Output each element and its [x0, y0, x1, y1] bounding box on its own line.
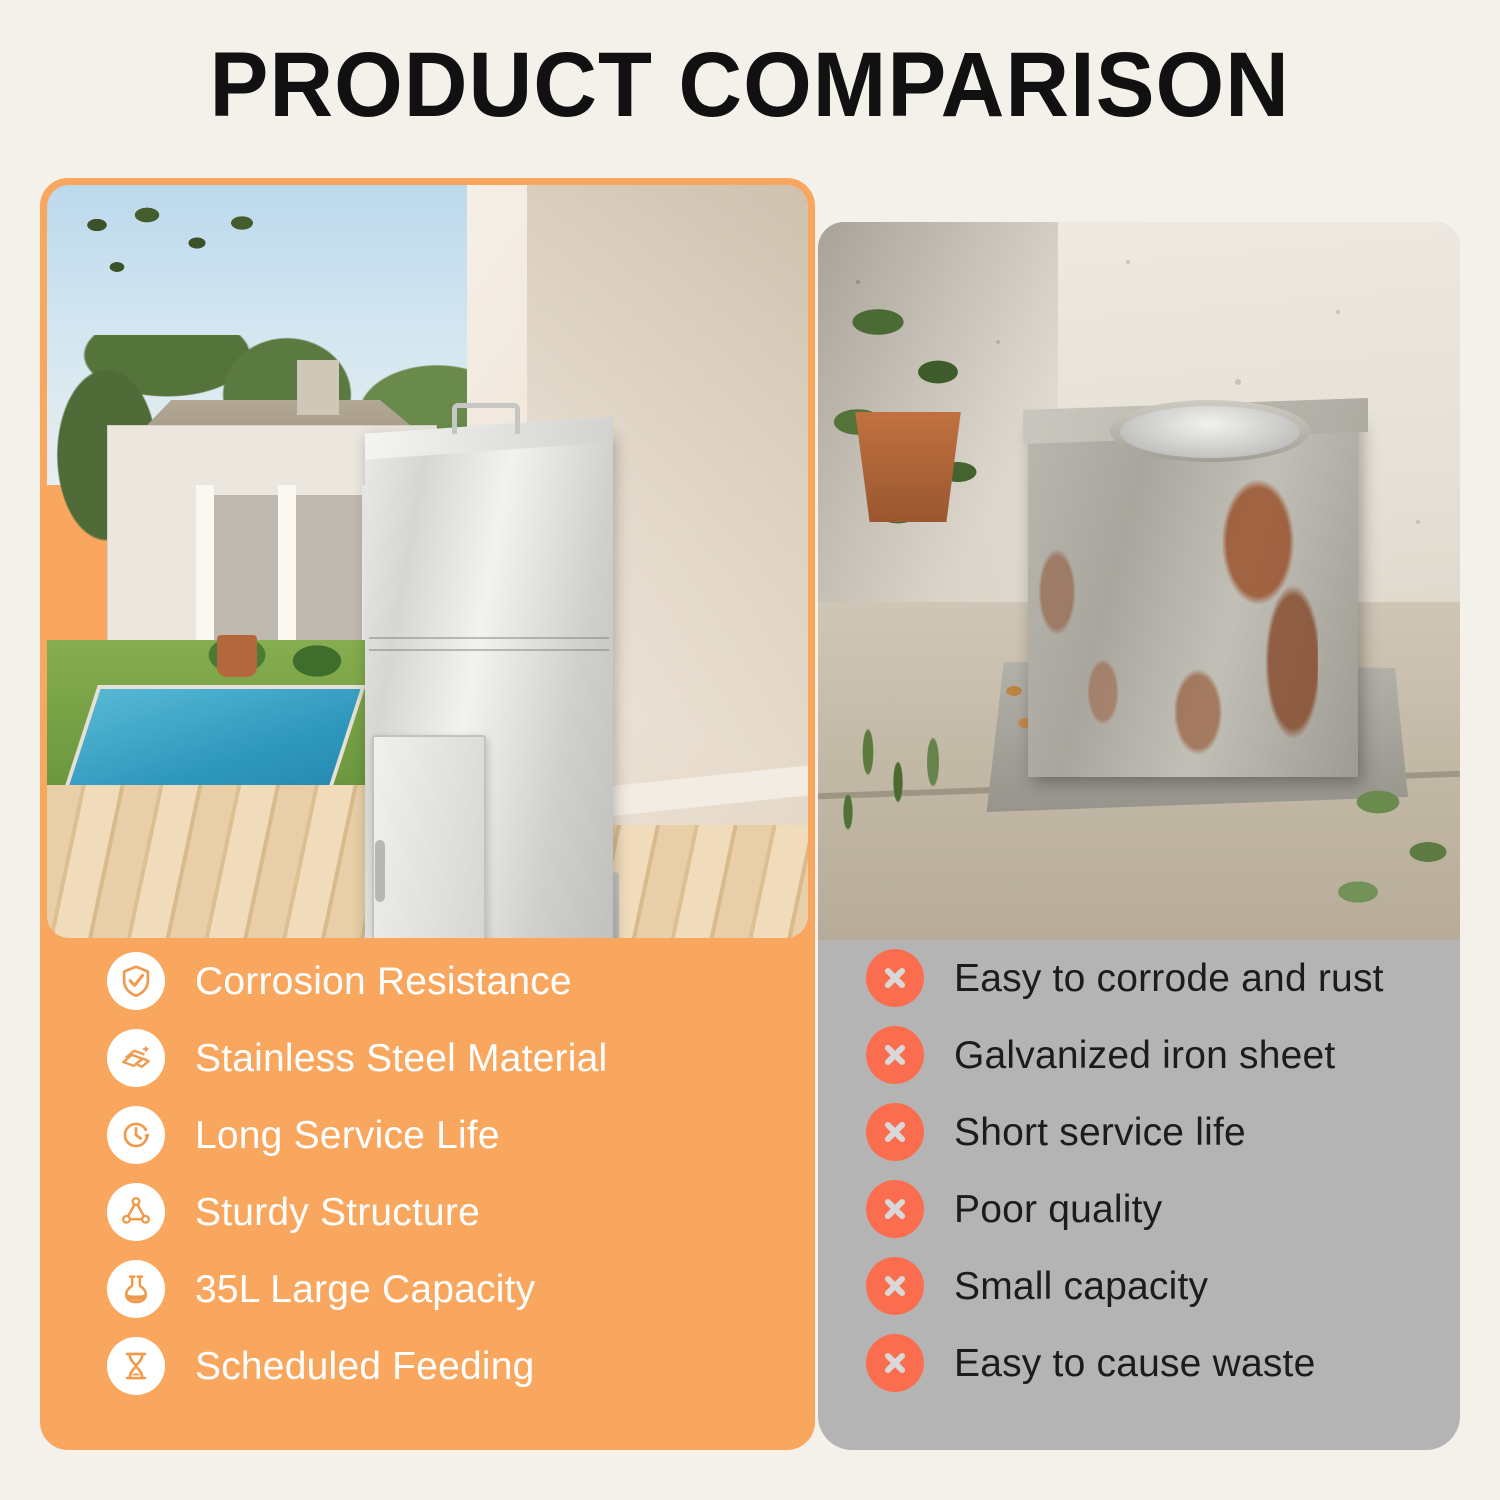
list-item-label: Easy to cause waste	[954, 1344, 1315, 1383]
list-item: Short service life	[866, 1094, 1460, 1170]
triangle-nodes-icon	[107, 1183, 165, 1241]
bad-product-photo	[818, 222, 1460, 940]
photo-garden-pot	[217, 635, 257, 677]
good-product-panel: Corrosion Resistance Stainless Steel Mat…	[40, 178, 815, 1450]
list-item: Poor quality	[866, 1171, 1460, 1247]
list-item: Stainless Steel Material	[107, 1020, 808, 1096]
list-item-label: Small capacity	[954, 1267, 1208, 1306]
photo-branches	[57, 195, 307, 345]
list-item-label: Sturdy Structure	[195, 1193, 480, 1232]
cross-circle-icon	[866, 1334, 924, 1392]
shield-check-icon	[107, 952, 165, 1010]
list-item: Scheduled Feeding	[107, 1328, 808, 1404]
hourglass-icon	[107, 1337, 165, 1395]
good-product-photo	[47, 185, 808, 938]
list-item-label: Galvanized iron sheet	[954, 1036, 1335, 1075]
photo-feeder-seam	[369, 649, 609, 651]
photo-feeder-door	[372, 735, 486, 938]
list-item: Small capacity	[866, 1248, 1460, 1324]
header: PRODUCT COMPARISON	[0, 0, 1500, 170]
list-item-label: Poor quality	[954, 1190, 1162, 1229]
photo-feeder-seam	[369, 637, 609, 639]
list-item: Easy to corrode and rust	[866, 940, 1460, 1016]
photo-feeder-door-handle	[375, 840, 385, 902]
cross-circle-icon	[866, 1180, 924, 1238]
photo-rust-stain-right	[1138, 462, 1318, 762]
bad-product-panel: Easy to corrode and rust Galvanized iron…	[818, 222, 1460, 1450]
metal-bars-icon	[107, 1029, 165, 1087]
cross-circle-icon	[866, 1026, 924, 1084]
photo-leaves	[1318, 752, 1460, 940]
flask-icon	[107, 1260, 165, 1318]
photo-chimney	[297, 360, 339, 415]
list-item: Sturdy Structure	[107, 1174, 808, 1250]
photo-stainless-bowl	[1120, 406, 1300, 458]
list-item-label: 35L Large Capacity	[195, 1270, 535, 1309]
list-item: 35L Large Capacity	[107, 1251, 808, 1327]
page-title: PRODUCT COMPARISON	[210, 33, 1290, 138]
list-item-label: Stainless Steel Material	[195, 1039, 607, 1078]
list-item-label: Short service life	[954, 1113, 1246, 1152]
list-item-label: Corrosion Resistance	[195, 962, 572, 1001]
list-item-label: Easy to corrode and rust	[954, 959, 1384, 998]
list-item: Long Service Life	[107, 1097, 808, 1173]
photo-rust-stain-left	[1033, 522, 1153, 742]
cross-circle-icon	[866, 1257, 924, 1315]
bad-feature-list: Easy to corrode and rust Galvanized iron…	[818, 940, 1460, 1402]
cross-circle-icon	[866, 1103, 924, 1161]
cross-circle-icon	[866, 949, 924, 1007]
photo-weeds	[828, 692, 1008, 892]
clock-arrow-icon	[107, 1106, 165, 1164]
list-item: Galvanized iron sheet	[866, 1017, 1460, 1093]
good-feature-list: Corrosion Resistance Stainless Steel Mat…	[47, 943, 808, 1405]
list-item: Corrosion Resistance	[107, 943, 808, 1019]
list-item: Easy to cause waste	[866, 1325, 1460, 1401]
list-item-label: Long Service Life	[195, 1116, 500, 1155]
photo-feeder-handle	[452, 403, 520, 434]
list-item-label: Scheduled Feeding	[195, 1347, 535, 1386]
